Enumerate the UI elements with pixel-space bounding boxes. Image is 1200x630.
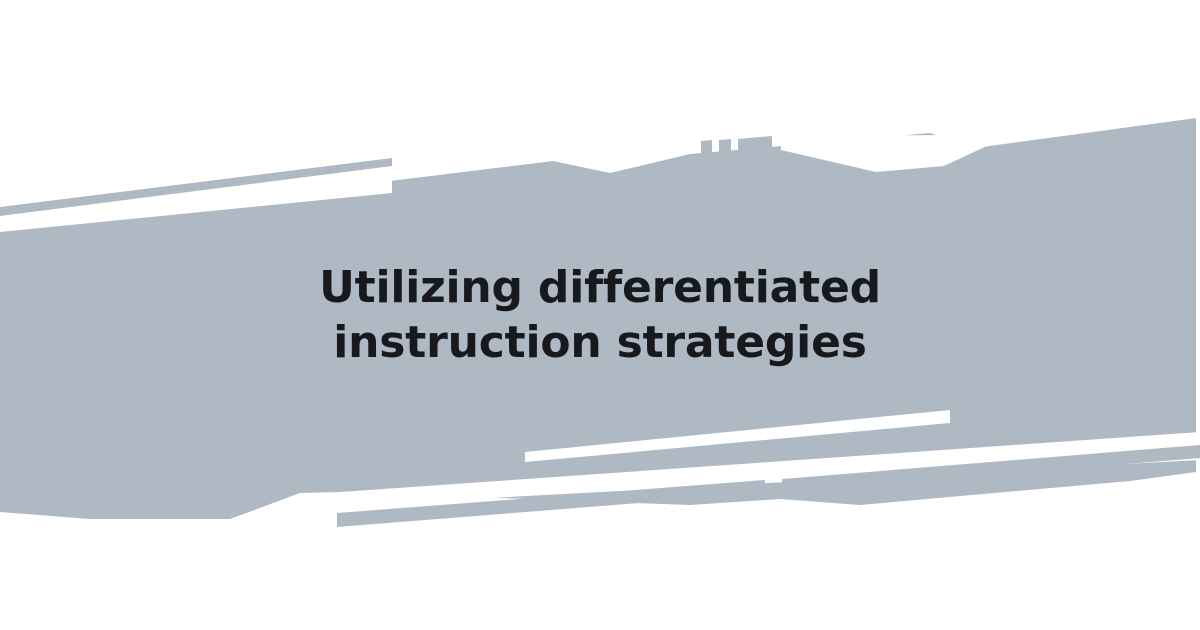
top-dash-mark-2	[719, 139, 731, 154]
banner-card: Utilizing differentiated instruction str…	[0, 0, 1200, 630]
banner-graphic	[0, 0, 1200, 630]
top-dash-mark-3	[738, 136, 772, 153]
top-dash-mark-1	[701, 140, 712, 155]
